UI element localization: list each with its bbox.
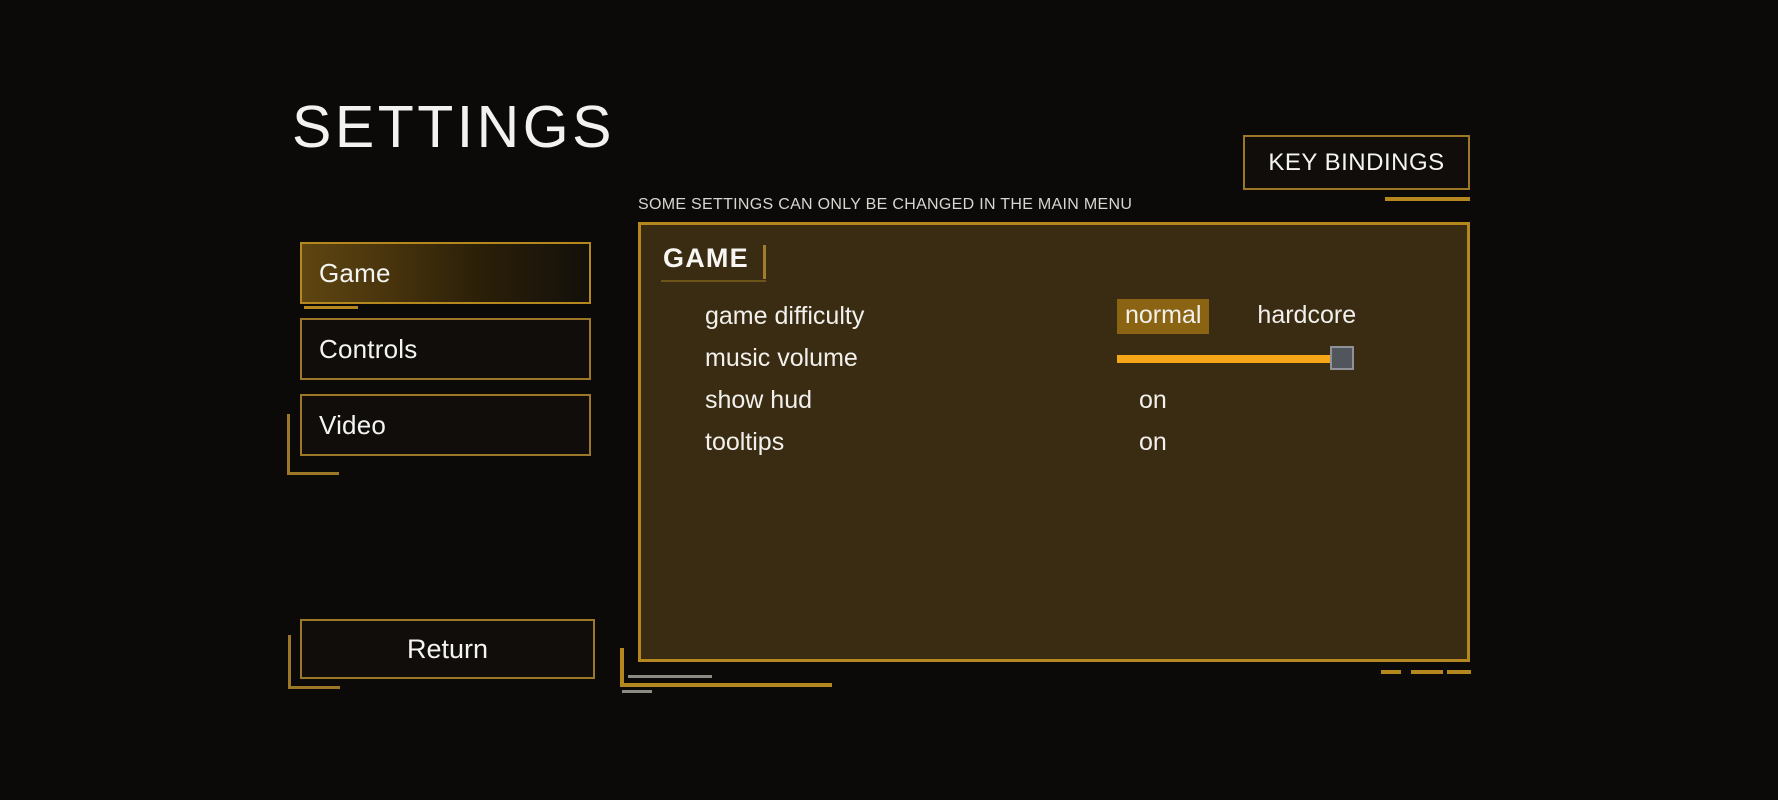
main-menu-notice: SOME SETTINGS CAN ONLY BE CHANGED IN THE…: [638, 196, 1132, 214]
setting-label-game-difficulty: game difficulty: [705, 302, 1117, 331]
panel-heading-underline: [661, 280, 766, 282]
panel-decoration-dash-3: [1447, 670, 1457, 674]
setting-label-tooltips: tooltips: [705, 428, 1117, 457]
sidebar-item-video[interactable]: Video: [300, 394, 591, 456]
return-bracket-vertical: [288, 635, 291, 689]
show-hud-value[interactable]: on: [1139, 386, 1167, 415]
settings-category-list: Game Controls Video: [300, 242, 591, 470]
panel-bracket-accent-line-1: [628, 675, 712, 678]
setting-label-show-hud: show hud: [705, 386, 1117, 415]
panel-heading-tick: [763, 245, 766, 279]
sidebar-bracket-horizontal: [287, 472, 339, 475]
music-volume-slider[interactable]: [1117, 346, 1352, 370]
page-title: SETTINGS: [292, 98, 615, 157]
setting-label-music-volume: music volume: [705, 344, 1117, 373]
music-volume-slider-fill: [1117, 355, 1339, 363]
return-button-label: Return: [407, 634, 488, 665]
difficulty-option-normal[interactable]: normal: [1117, 299, 1209, 334]
settings-row-list: game difficulty normal hardcore music vo…: [705, 295, 1445, 463]
setting-row-game-difficulty: game difficulty normal hardcore: [705, 295, 1445, 337]
sidebar-item-video-label: Video: [319, 410, 386, 441]
key-bindings-button[interactable]: KEY BINDINGS: [1243, 135, 1470, 190]
difficulty-option-hardcore[interactable]: hardcore: [1249, 299, 1364, 334]
sidebar-item-controls[interactable]: Controls: [300, 318, 591, 380]
panel-bracket-accent-line-2: [622, 690, 652, 693]
panel-decoration-dash-4: [1461, 670, 1471, 674]
panel-bracket-horizontal: [620, 683, 832, 687]
setting-row-show-hud: show hud on: [705, 379, 1445, 421]
sidebar-item-game-label: Game: [319, 258, 391, 289]
settings-screen: SETTINGS KEY BINDINGS SOME SETTINGS CAN …: [0, 0, 1778, 800]
setting-row-music-volume: music volume: [705, 337, 1445, 379]
sidebar-bracket-vertical: [287, 414, 290, 475]
panel-bracket-vertical: [620, 648, 624, 686]
sidebar-item-game-active-tick: [304, 306, 358, 309]
return-bracket-horizontal: [288, 686, 340, 689]
panel-decoration-dash-1: [1381, 670, 1401, 674]
return-button[interactable]: Return: [300, 619, 595, 679]
sidebar-item-game[interactable]: Game: [300, 242, 591, 304]
key-bindings-decoration-dash-2: [1407, 197, 1470, 201]
music-volume-slider-handle[interactable]: [1330, 346, 1354, 370]
settings-panel: GAME game difficulty normal hardcore mus…: [638, 222, 1470, 662]
setting-row-tooltips: tooltips on: [705, 421, 1445, 463]
key-bindings-label: KEY BINDINGS: [1268, 149, 1444, 177]
sidebar-item-controls-label: Controls: [319, 334, 417, 365]
panel-heading: GAME: [663, 243, 749, 274]
tooltips-value[interactable]: on: [1139, 428, 1167, 457]
